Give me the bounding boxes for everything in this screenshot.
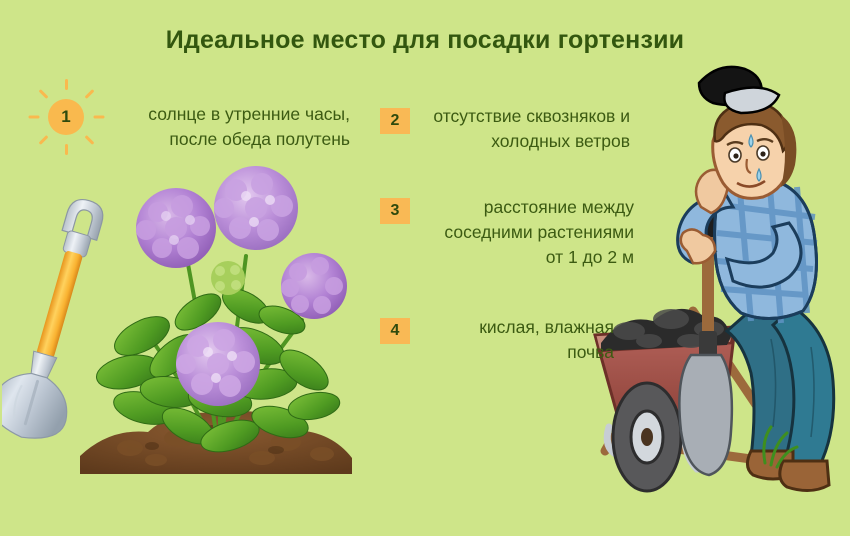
page-title: Идеальное место для посадки гортензии	[0, 26, 850, 55]
sun-ray	[84, 135, 94, 145]
sun-ray	[65, 144, 68, 155]
cap-icon	[699, 67, 779, 113]
sun-ray	[38, 135, 48, 145]
tip-text-2: отсутствие сквозняков и холодных ветров	[400, 104, 630, 154]
tip-text-1: солнце в утренние часы, после обеда полу…	[110, 102, 350, 152]
sun-icon: 1	[28, 79, 104, 155]
infographic-canvas: Идеальное место для посадки гортензии	[0, 0, 850, 536]
sun-ray	[84, 89, 94, 99]
sun-ray	[38, 89, 48, 99]
sun-ray	[65, 79, 68, 90]
tip-number-1: 1	[48, 99, 84, 135]
sun-ray	[28, 116, 39, 119]
sun-ray	[93, 116, 104, 119]
hydrangea-bush-illustration	[70, 160, 360, 480]
tip-text-4: кислая, влажная почва	[400, 315, 614, 365]
tip-text-3: расстояние между соседними растениями от…	[400, 195, 634, 270]
